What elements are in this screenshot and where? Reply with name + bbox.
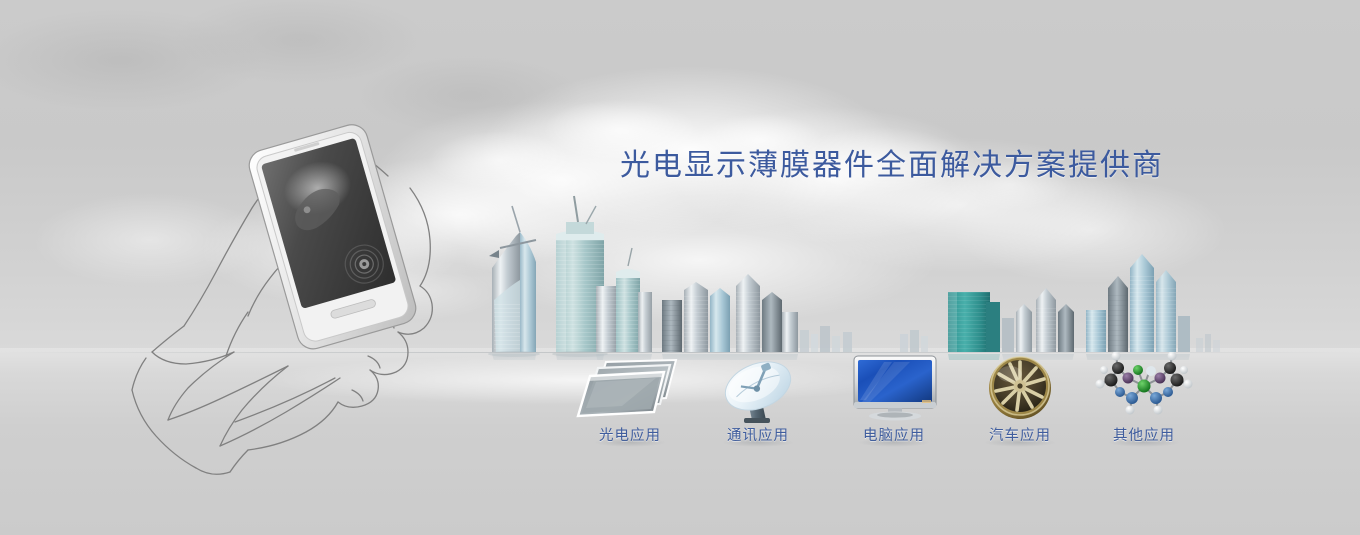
building-blue-towers	[1086, 254, 1190, 360]
icon-shadow	[1107, 438, 1181, 447]
icon-shadow	[593, 438, 667, 447]
building-burj-al-arab	[488, 206, 540, 360]
icon-shadow	[857, 438, 931, 447]
page-title: 光电显示薄膜器件全面解决方案提供商	[620, 140, 1164, 184]
building-cluster-center	[662, 274, 798, 360]
car-wheel-rim-icon	[960, 352, 1080, 424]
icon-shadow	[983, 438, 1057, 447]
app-item-other[interactable]: 其他应用	[1084, 352, 1204, 445]
app-item-automotive[interactable]: 汽车应用	[960, 352, 1080, 445]
app-item-computer[interactable]: 电脑应用	[834, 352, 954, 445]
hand-phone-illustration	[130, 120, 470, 490]
computer-monitor-icon	[834, 352, 954, 424]
hero-banner: 光电显示薄膜器件全面解决方案提供商	[0, 0, 1360, 535]
satellite-dish-icon	[698, 352, 818, 424]
molecule-model-icon	[1084, 352, 1204, 424]
building-distant-strip	[1196, 334, 1220, 352]
icon-shadow	[721, 438, 795, 447]
building-teal-block	[948, 292, 1000, 360]
building-cluster-right	[1002, 288, 1074, 360]
building-far-small	[800, 326, 928, 352]
building-cluster-left	[596, 248, 652, 360]
smartphone	[245, 121, 419, 353]
application-icon-row: 光电应用	[560, 352, 1220, 462]
app-item-communication[interactable]: 通讯应用	[698, 352, 818, 445]
glass-panels-icon	[570, 352, 690, 424]
app-item-optoelectronic[interactable]: 光电应用	[570, 352, 690, 445]
